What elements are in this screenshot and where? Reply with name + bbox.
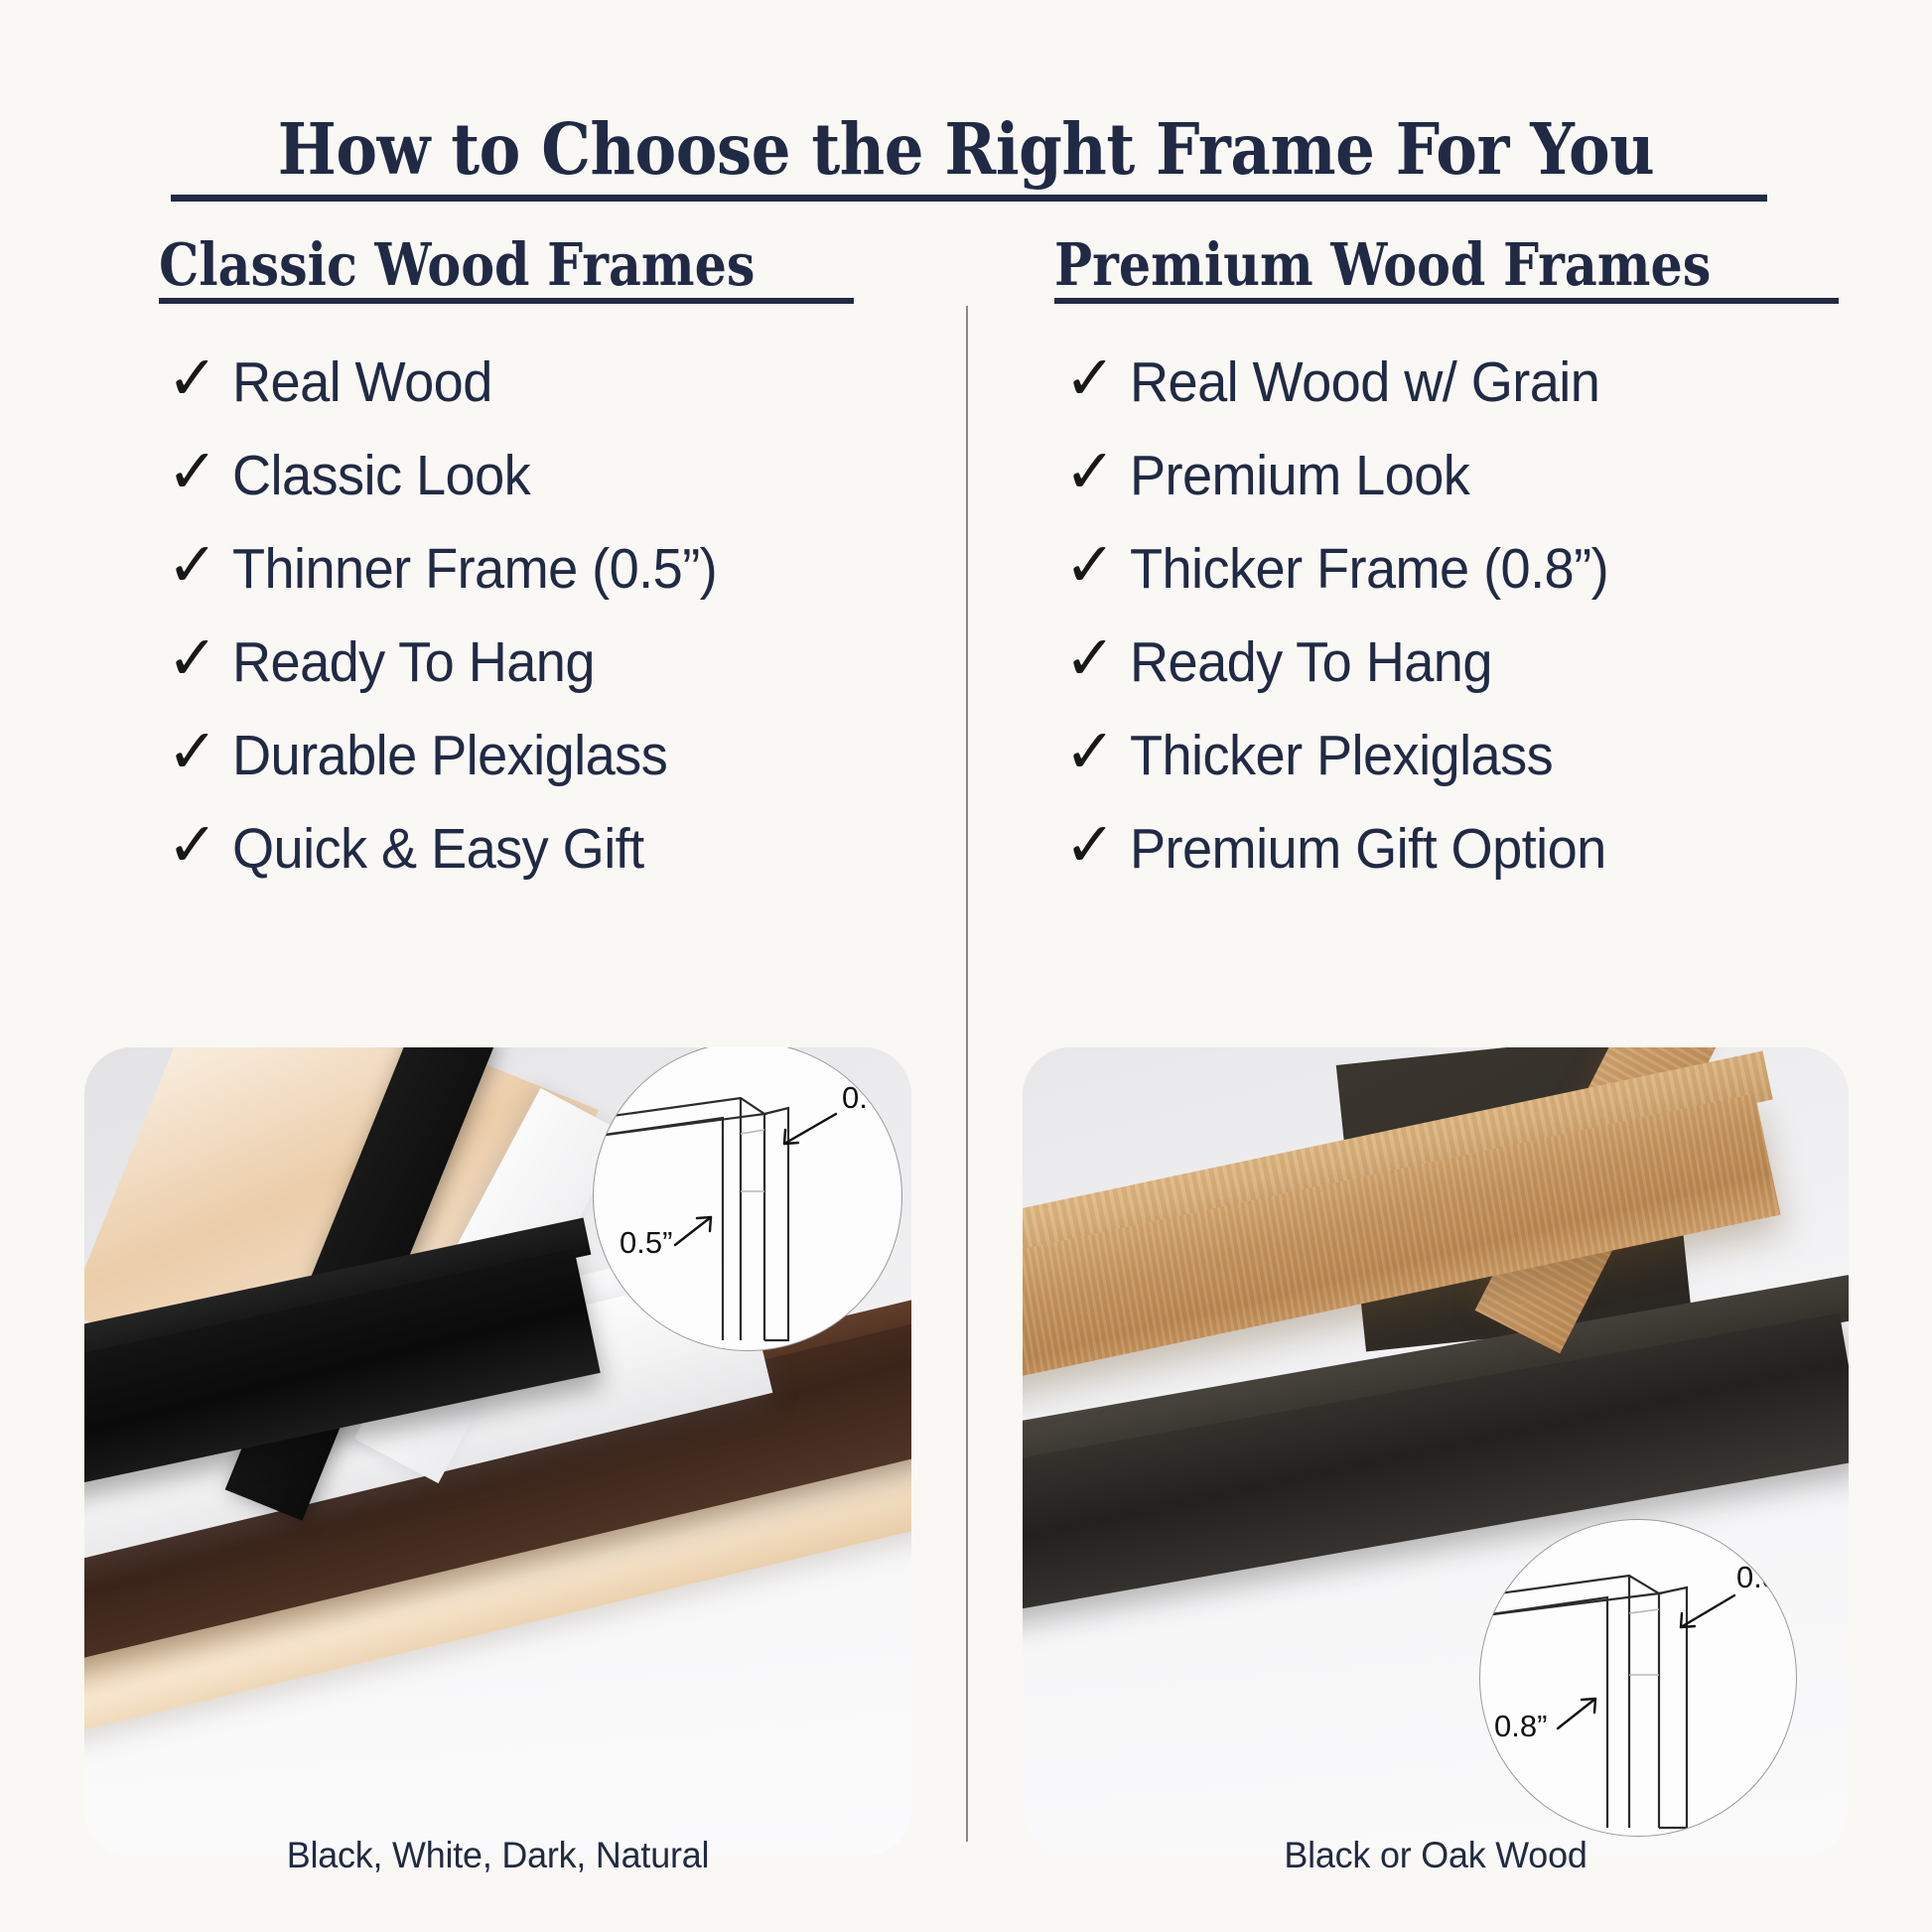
infographic-page: How to Choose the Right Frame For You Cl… xyxy=(0,0,1932,1932)
photo-card-premium: 0.8” 0.8” xyxy=(1023,1047,1849,1857)
page-title-underline xyxy=(171,195,1767,202)
check-icon: ✓ xyxy=(1064,627,1126,689)
classic-dimension-callout: 0.75” 0.5” xyxy=(593,1047,902,1351)
feature-label: Real Wood w/ Grain xyxy=(1130,349,1599,415)
feature-label: Real Wood xyxy=(232,349,492,415)
feature-item: ✓ Real Wood xyxy=(167,338,921,427)
feature-item: ✓ Ready To Hang xyxy=(1064,618,1849,707)
check-icon: ✓ xyxy=(1064,441,1126,502)
photo-caption-premium: Black or Oak Wood xyxy=(1035,1835,1836,1876)
feature-label: Ready To Hang xyxy=(232,629,595,695)
check-icon: ✓ xyxy=(167,814,228,876)
check-icon: ✓ xyxy=(1064,534,1126,596)
check-icon: ✓ xyxy=(1064,814,1126,876)
column-heading-classic-underline xyxy=(159,298,854,304)
column-divider xyxy=(966,306,968,1842)
feature-item: ✓ Premium Gift Option xyxy=(1064,804,1849,894)
photo-card-classic: 0.75” 0.5” xyxy=(84,1047,911,1857)
check-icon: ✓ xyxy=(1064,347,1126,409)
feature-item: ✓ Durable Plexiglass xyxy=(167,711,921,800)
feature-item: ✓ Quick & Easy Gift xyxy=(167,804,921,894)
check-icon: ✓ xyxy=(1064,721,1126,782)
premium-dimension-callout: 0.8” 0.8” xyxy=(1479,1519,1797,1837)
feature-label: Premium Look xyxy=(1130,443,1469,508)
column-heading-classic: Classic Wood Frames xyxy=(159,230,755,299)
feature-label: Classic Look xyxy=(232,443,530,508)
column-heading-premium: Premium Wood Frames xyxy=(1054,230,1711,299)
check-icon: ✓ xyxy=(167,627,228,689)
check-icon: ✓ xyxy=(167,534,228,596)
column-heading-premium-underline xyxy=(1054,298,1839,304)
feature-item: ✓ Classic Look xyxy=(167,431,921,520)
feature-list-premium: ✓ Real Wood w/ Grain ✓ Premium Look ✓ Th… xyxy=(1064,338,1849,897)
feature-list-classic: ✓ Real Wood ✓ Classic Look ✓ Thinner Fra… xyxy=(167,338,921,897)
feature-label: Ready To Hang xyxy=(1130,629,1492,695)
feature-item: ✓ Real Wood w/ Grain xyxy=(1064,338,1849,427)
feature-item: ✓ Ready To Hang xyxy=(167,618,921,707)
check-icon: ✓ xyxy=(167,721,228,782)
feature-label: Thicker Frame (0.8”) xyxy=(1130,536,1608,602)
feature-label: Durable Plexiglass xyxy=(232,723,667,788)
feature-item: ✓ Premium Look xyxy=(1064,431,1849,520)
check-icon: ✓ xyxy=(167,441,228,502)
classic-width-label: 0.5” xyxy=(620,1225,672,1260)
feature-label: Premium Gift Option xyxy=(1130,816,1606,882)
feature-item: ✓ Thicker Frame (0.8”) xyxy=(1064,524,1849,614)
page-title: How to Choose the Right Frame For You xyxy=(116,107,1816,191)
premium-width-label: 0.8” xyxy=(1494,1709,1547,1743)
feature-item: ✓ Thinner Frame (0.5”) xyxy=(167,524,921,614)
feature-item: ✓ Thicker Plexiglass xyxy=(1064,711,1849,800)
classic-dimension-diagram: 0.75” 0.5” xyxy=(594,1047,901,1350)
check-icon: ✓ xyxy=(167,347,228,409)
feature-label: Quick & Easy Gift xyxy=(232,816,644,882)
feature-label: Thicker Plexiglass xyxy=(1130,723,1553,788)
premium-dimension-diagram: 0.8” 0.8” xyxy=(1480,1520,1796,1836)
feature-label: Thinner Frame (0.5”) xyxy=(232,536,717,602)
photo-caption-classic: Black, White, Dark, Natural xyxy=(96,1835,898,1876)
